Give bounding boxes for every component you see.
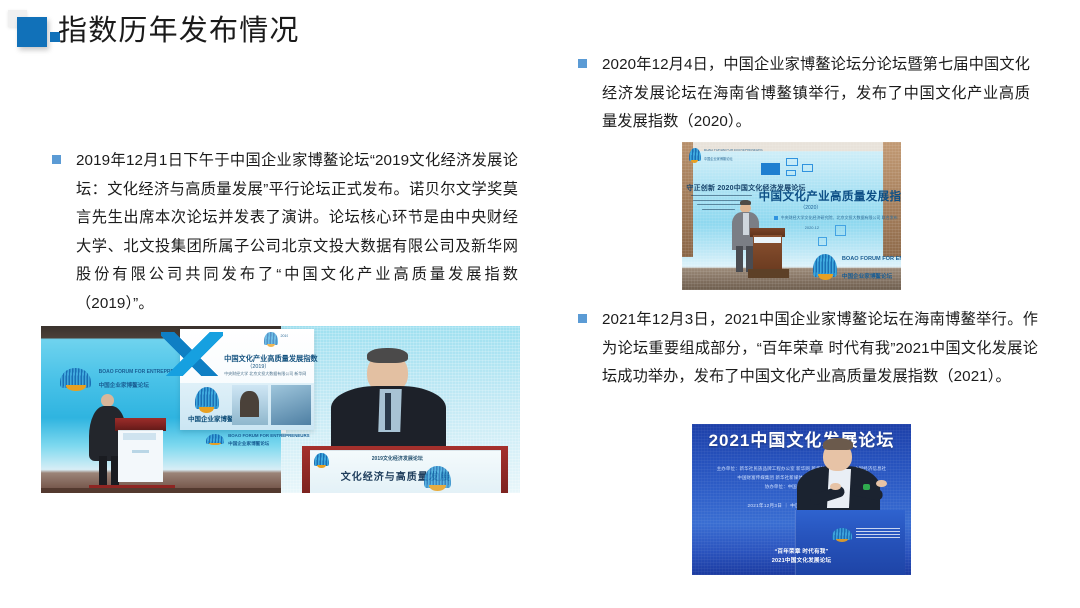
podium-line1-2021: “百年荣章 时代有我” [710, 548, 894, 556]
bottom-logo-en-2020: BOAO FORUM FOR ENTREPRENEURS [842, 256, 901, 262]
bullet-text-2020: 2020年12月4日，中国企业家博鳌论坛分论坛暨第七届中国文化经济发展论坛在海南… [602, 51, 1030, 137]
backdrop-cn-text: 中国企业家博鳌论坛 [99, 381, 149, 389]
bullet-block-2020: 2020年12月4日，中国企业家博鳌论坛分论坛暨第七届中国文化经济发展论坛在海南… [578, 51, 1030, 137]
square-bullet-icon [578, 59, 587, 68]
podium-line2-2021: 2021中国文化发展论坛 [710, 557, 894, 565]
photo-2021-forum: 2021中国文化发展论坛 主办单位：新华社民族品牌工程办公室 新华网 新华社新闻… [692, 424, 911, 575]
logo-cn-2020: 中国企业家博鳌论坛 [704, 156, 733, 161]
bullet-block-2021: 2021年12月3日，2021中国企业家博鳌论坛在海南博鳌举行。作为论坛重要组成… [578, 306, 1038, 392]
boao-logo-cn-2019: 中国企业家博鳌论坛 [228, 441, 269, 447]
right-column: 2020年12月4日，中国企业家博鳌论坛分论坛暨第七届中国文化经济发展论坛在海南… [540, 0, 1080, 608]
screen-sub-2019: 中央财经大学 北京文投大数据有限公司 新华网 [224, 371, 306, 377]
screen-sub-2020: 中央财经大学文化经济研究院、北京文投大数据有限公司 联合发布 [781, 215, 898, 221]
photo-2019-forum: BOAO FORUM FOR ENTREPRENEURS 中国企业家博鳌论坛 [41, 326, 520, 493]
banner-sub-line1-2021: 主办单位：新华社民族品牌工程办公室 新华网 新华社新闻信息中心 中国经济信息社 [705, 465, 898, 472]
bottom-logo-cn-2020: 中国企业家博鳌论坛 [842, 272, 892, 280]
logo-en-2020: BOAO FORUM FOR ENTREPRENEURS [704, 149, 763, 153]
screen-main-title-2020: 中国文化产业高质量发展指数 [759, 188, 901, 204]
boao-logo-en-2019: BOAO FORUM FOR ENTREPRENEURS [228, 433, 309, 438]
bullet-text-2021: 2021年12月3日，2021中国企业家博鳌论坛在海南博鳌举行。作为论坛重要组成… [602, 306, 1038, 392]
screen-year-2020: （2020） [800, 204, 821, 211]
left-column: 2019年12月1日下午于中国企业家博鳌论坛“2019文化经济发展论坛：文化经济… [0, 0, 540, 608]
screen-year-2019: （2019） [247, 362, 270, 370]
screen-title-2019: 中国文化产业高质量发展指数 [224, 354, 317, 364]
bullet-text-2019: 2019年12月1日下午于中国企业家博鳌论坛“2019文化经济发展论坛：文化经济… [76, 147, 518, 318]
screen-logo-year-2019: 2019 [280, 334, 288, 338]
banner-title-2021: 2021中国文化发展论坛 [701, 430, 902, 451]
square-bullet-icon [578, 314, 587, 323]
bullet-block-2019: 2019年12月1日下午于中国企业家博鳌论坛“2019文化经济发展论坛：文化经济… [52, 147, 518, 318]
photo-2020-forum: BOAO FORUM FOR ENTREPRENEURS 中国企业家博鳌论坛 守… [682, 142, 901, 290]
screen-date-2020: 2020.12 [805, 225, 819, 230]
photo-2019-right-scene: 2019文化经济发展论坛 文化经济与高质量发展 [281, 326, 520, 493]
slide-root: 指数历年发布情况 2019年12月1日下午于中国企业家博鳌论坛“2019文化经济… [0, 0, 1080, 608]
square-bullet-icon [52, 155, 61, 164]
podium-line1-2019: 2019文化经济发展论坛 [372, 455, 423, 462]
